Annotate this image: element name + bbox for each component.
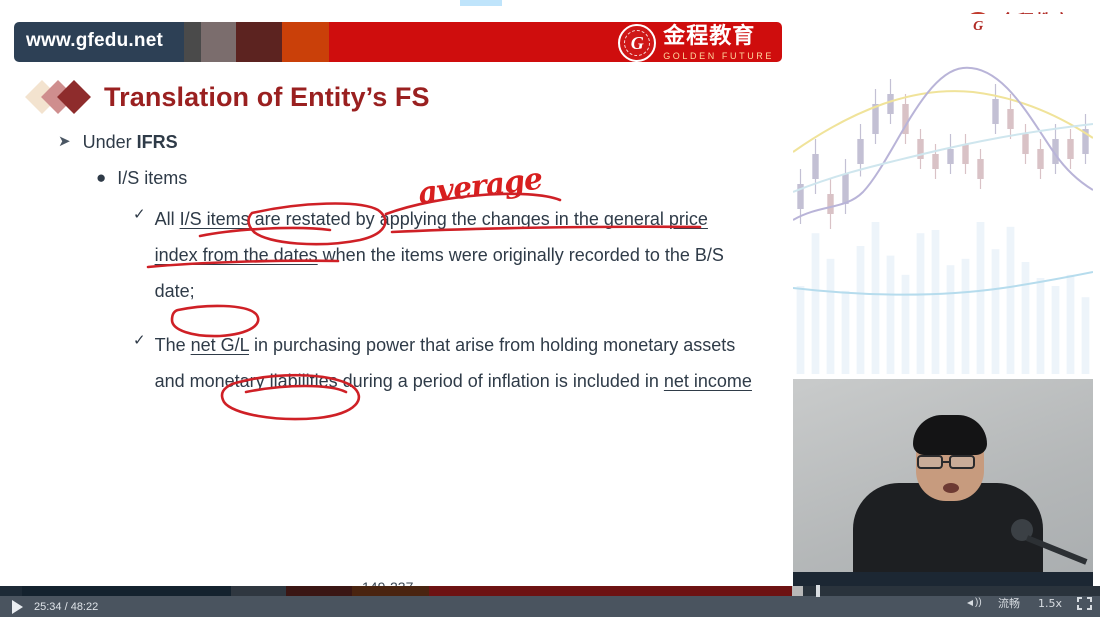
item1-underline-1: I/S items bbox=[180, 209, 250, 229]
diamond-ornament-icon bbox=[30, 80, 104, 114]
check-bullet-icon: ✓ bbox=[133, 201, 146, 230]
progress-bar[interactable] bbox=[0, 586, 1100, 596]
arrow-bullet-icon: ➤ bbox=[58, 132, 71, 152]
slide-title-row: Translation of Entity’s FS bbox=[30, 72, 430, 122]
slide-logo-cn-text: 金程教育 bbox=[663, 26, 774, 48]
item1-seg-b: are restated by applying the changes in … bbox=[250, 209, 669, 229]
webcam-person-mouth bbox=[943, 483, 959, 493]
progress-handle[interactable] bbox=[816, 585, 820, 597]
slide-header-url: www.gfedu.net bbox=[26, 30, 163, 52]
item2-underline-1: net G/L bbox=[191, 335, 249, 355]
item2-seg-a: The bbox=[155, 335, 191, 355]
bullet-item-2-text: The net G/L in purchasing power that ari… bbox=[155, 327, 755, 399]
video-player-page: G 金程教育 GOLDEN FUTURE www.gfedu.net G 金程教… bbox=[0, 0, 1100, 617]
fullscreen-icon[interactable] bbox=[1077, 597, 1092, 610]
background-chart-watermark bbox=[793, 14, 1093, 374]
bullet-level1-lead: Under bbox=[83, 132, 137, 152]
item1-seg-a: All bbox=[155, 209, 180, 229]
bullet-level1: ➤ Under IFRS bbox=[58, 132, 790, 154]
play-button[interactable]: 25:34 / 48:22 bbox=[12, 596, 98, 617]
slide-logo-seal-icon: G bbox=[618, 24, 656, 62]
time-display: 25:34 / 48:22 bbox=[34, 601, 98, 613]
player-right-controls: )) 流畅 1.5x bbox=[967, 594, 1092, 612]
webcam-glasses-bridge bbox=[943, 461, 949, 463]
bullet-level2-text: I/S items bbox=[117, 168, 187, 190]
webcam-person-hair bbox=[913, 415, 987, 455]
dot-bullet-icon: ● bbox=[96, 168, 106, 188]
item2-underline-2: net income bbox=[664, 371, 752, 391]
watermark-seal-glyph: G bbox=[973, 19, 983, 35]
webcam-bottom-bar bbox=[793, 572, 1093, 586]
slide-logo-seal-glyph: G bbox=[631, 33, 644, 54]
bullet-item-1-text: All I/S items are restated by applying t… bbox=[155, 201, 755, 309]
bullet-level1-text: Under IFRS bbox=[83, 132, 178, 154]
slide-body: ➤ Under IFRS ● I/S items ✓ All I/S items… bbox=[0, 132, 790, 403]
instructor-webcam-video[interactable] bbox=[793, 379, 1093, 586]
chart-svg bbox=[793, 14, 1093, 374]
video-player-controls: 25:34 / 48:22 )) 流畅 1.5x bbox=[0, 586, 1100, 617]
bullet-level1-emphasis: IFRS bbox=[137, 132, 178, 152]
slide-header-logo: G 金程教育 GOLDEN FUTURE bbox=[618, 24, 774, 62]
bullet-item-2: ✓ The net G/L in purchasing power that a… bbox=[133, 327, 790, 399]
slide-canvas: www.gfedu.net G 金程教育 GOLDEN FUTURE Trans… bbox=[0, 14, 790, 588]
webcam-glasses-right bbox=[949, 455, 975, 469]
volume-icon[interactable]: )) bbox=[967, 596, 983, 610]
top-blue-marker bbox=[460, 0, 502, 6]
check-bullet-icon-2: ✓ bbox=[133, 327, 146, 356]
speed-selector[interactable]: 1.5x bbox=[1035, 596, 1065, 611]
page-title: Translation of Entity’s FS bbox=[104, 82, 430, 113]
bullet-item-1: ✓ All I/S items are restated by applying… bbox=[133, 201, 790, 309]
play-icon bbox=[12, 600, 23, 614]
quality-selector[interactable]: 流畅 bbox=[995, 594, 1023, 612]
slide-logo-en-text: GOLDEN FUTURE bbox=[663, 51, 774, 61]
webcam-glasses-left bbox=[917, 455, 943, 469]
